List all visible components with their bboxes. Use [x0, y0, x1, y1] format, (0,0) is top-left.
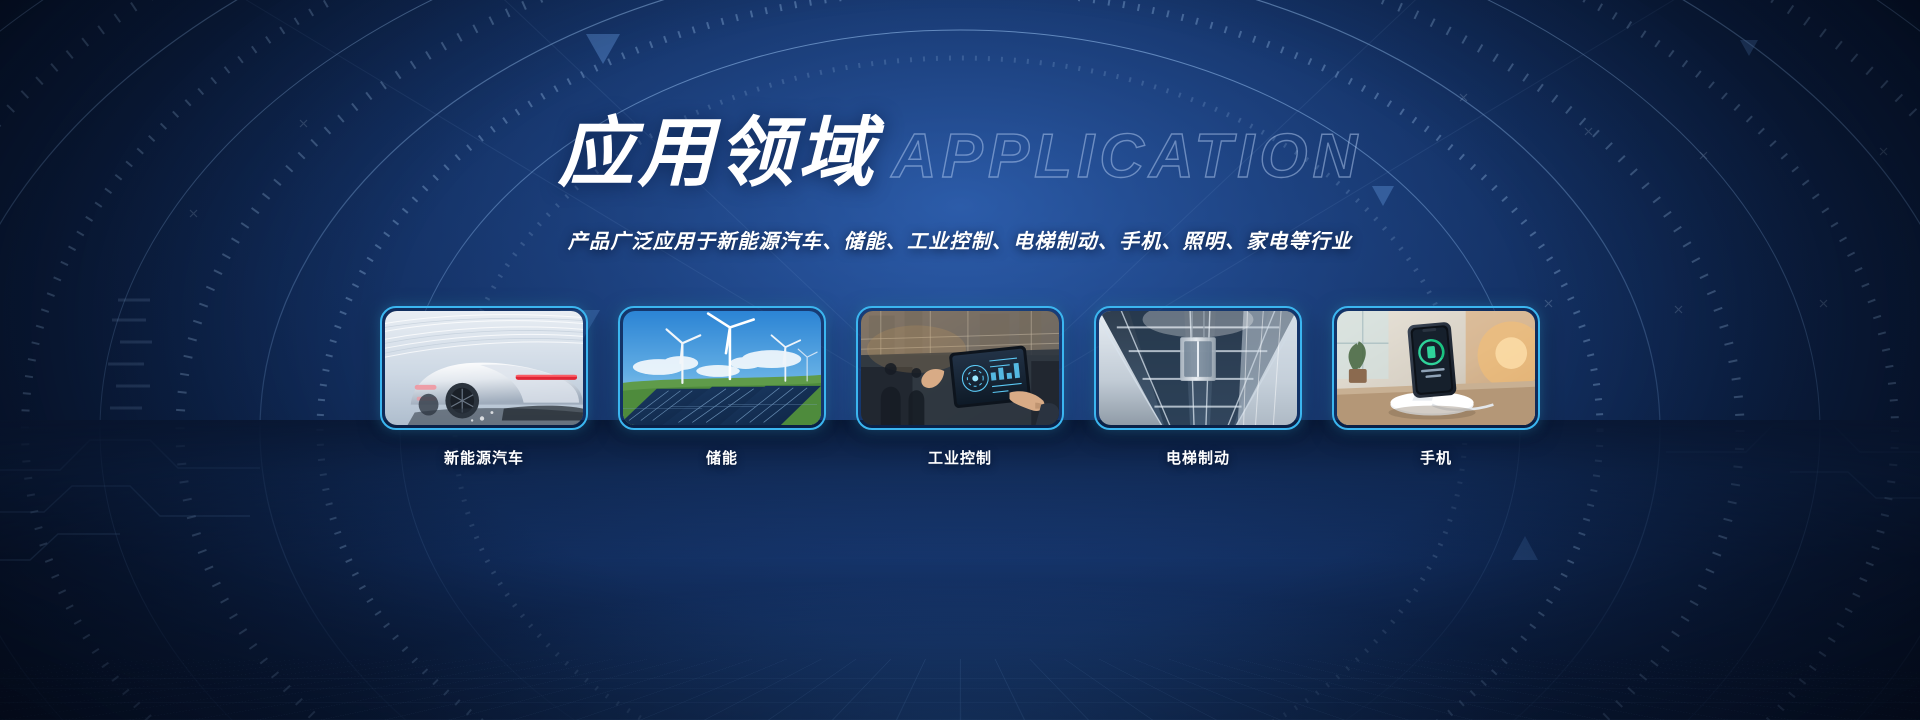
banner-stage: 应用领域 APPLICATION 产品广泛应用于新能源汽车、储能、工业控制、电梯… — [0, 0, 1920, 720]
elevator-brake-thumbnail — [1099, 311, 1297, 425]
card-frame[interactable] — [1094, 306, 1302, 430]
card-label: 工业控制 — [856, 447, 1064, 468]
application-card-elevator-brake[interactable]: 电梯制动 — [1094, 306, 1302, 468]
card-frame[interactable] — [1332, 306, 1540, 430]
page-title-en: APPLICATION — [892, 126, 1363, 188]
application-card-industrial-control[interactable]: 工业控制 — [856, 306, 1064, 468]
industrial-control-tablet-thumbnail — [861, 311, 1059, 425]
application-card-new-energy-vehicle[interactable]: 新能源汽车 — [380, 306, 588, 468]
card-label: 手机 — [1332, 447, 1540, 468]
application-card-mobile-phone[interactable]: 手机 — [1332, 306, 1540, 468]
application-card-row: 新能源汽车 — [0, 306, 1920, 468]
banner-subtitle: 产品广泛应用于新能源汽车、储能、工业控制、电梯制动、手机、照明、家电等行业 — [0, 225, 1920, 254]
card-frame[interactable] — [856, 306, 1064, 430]
mobile-phone-charger-thumbnail — [1337, 311, 1535, 425]
solar-wind-energy-thumbnail — [623, 311, 821, 425]
application-card-energy-storage[interactable]: 储能 — [618, 306, 826, 468]
card-frame[interactable] — [618, 306, 826, 430]
card-label: 储能 — [618, 447, 826, 468]
page-title-cn: 应用领域 — [558, 116, 878, 192]
electric-car-thumbnail — [385, 311, 583, 425]
card-label: 新能源汽车 — [380, 447, 588, 468]
banner-heading: 应用领域 APPLICATION — [0, 116, 1920, 192]
card-label: 电梯制动 — [1094, 447, 1302, 468]
card-frame[interactable] — [380, 306, 588, 430]
